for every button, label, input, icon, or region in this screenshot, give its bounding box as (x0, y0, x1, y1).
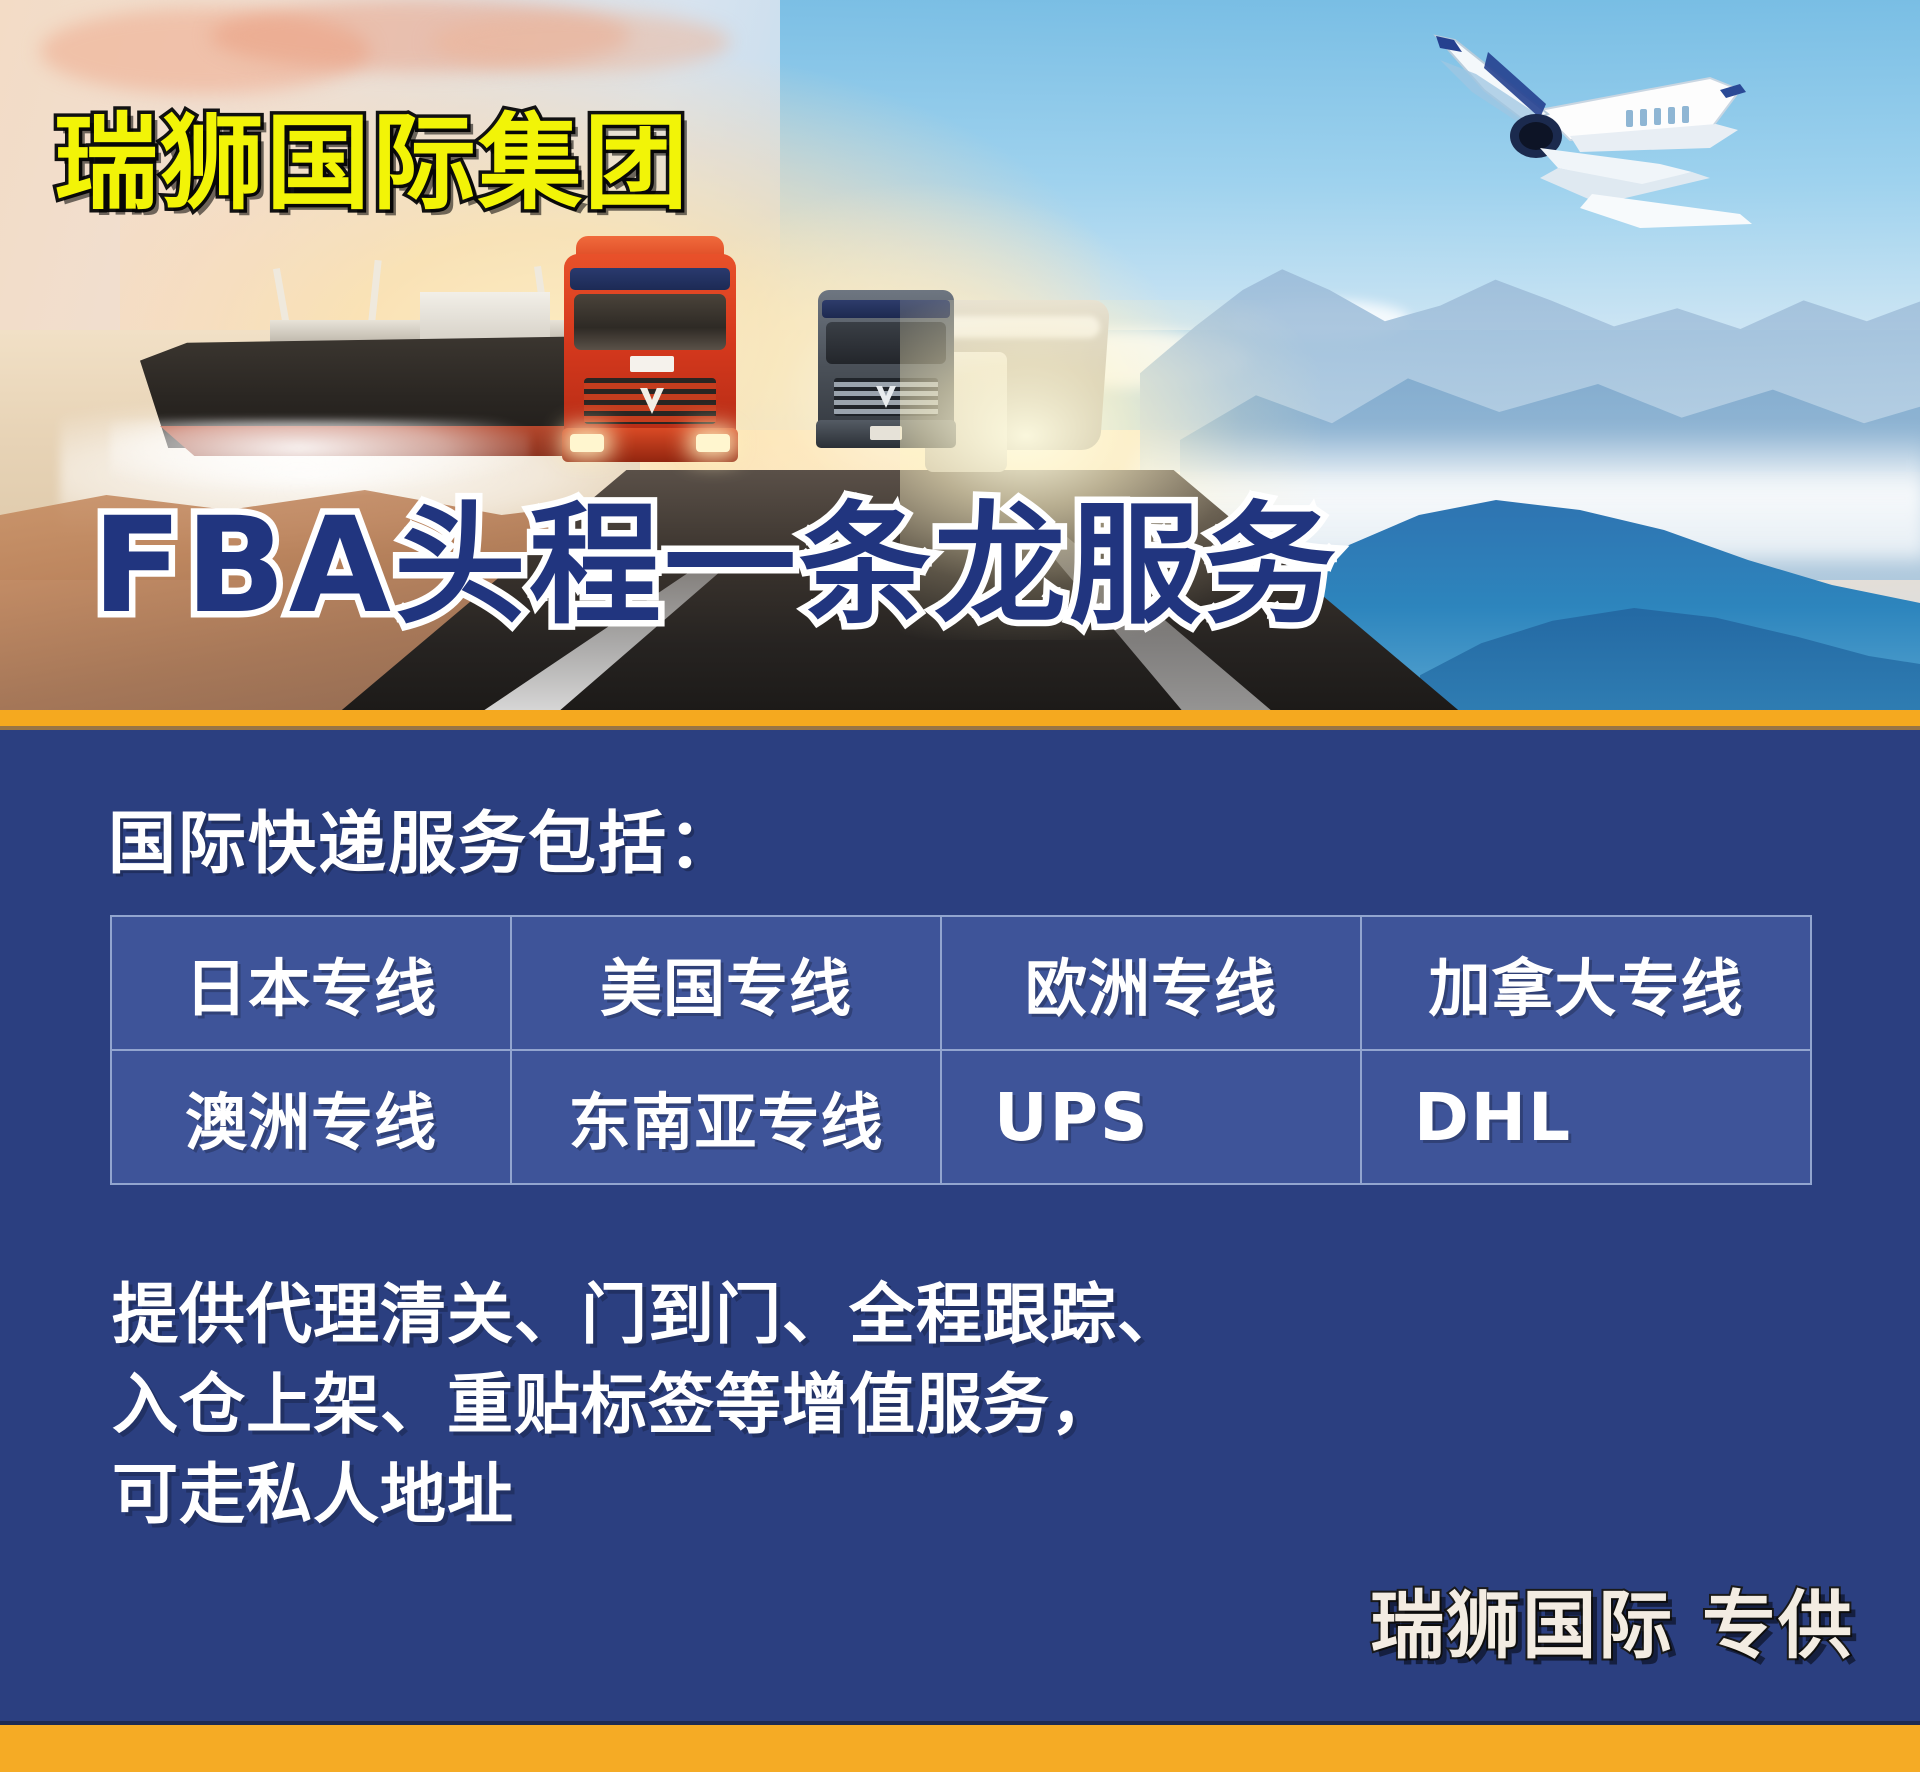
table-cell-dhl[interactable]: DHL (1361, 1050, 1811, 1184)
truck-brand-badge (630, 356, 674, 372)
footer-brand-mark: 瑞狮国际 专供 (1370, 1566, 1854, 1673)
paragraph-line-2: 入仓上架、重贴标签等增值服务， (112, 1360, 1184, 1450)
airplane-icon (1240, 18, 1760, 248)
cloud-icon (430, 12, 730, 72)
orange-divider (0, 710, 1920, 726)
truck-license-plate (870, 426, 902, 440)
truck-windshield (574, 294, 726, 350)
table-cell-eu[interactable]: 欧洲专线 (941, 916, 1361, 1050)
table-cell-ups[interactable]: UPS (941, 1050, 1361, 1184)
services-panel: 国际快递服务包括： 日本专线 美国专线 欧洲专线 加拿大专线 澳洲专线 东南亚专… (0, 730, 1920, 1725)
truck-visor-band (570, 268, 730, 290)
bottom-orange-bar (0, 1725, 1920, 1772)
hero-banner: 瑞狮国际集团 FBA头程一条龙服务 (0, 0, 1920, 712)
paragraph-line-1: 提供代理清关、门到门、全程跟踪、 (112, 1270, 1184, 1360)
table-cell-au[interactable]: 澳洲专线 (111, 1050, 511, 1184)
poster-root: 瑞狮国际集团 FBA头程一条龙服务 国际快递服务包括： 日本专线 美国专线 欧洲… (0, 0, 1920, 1772)
table-cell-us[interactable]: 美国专线 (511, 916, 941, 1050)
services-table: 日本专线 美国专线 欧洲专线 加拿大专线 澳洲专线 东南亚专线 UPS DHL (110, 915, 1812, 1185)
red-truck-graphic (556, 228, 746, 480)
paragraph-line-3: 可走私人地址 (112, 1450, 1184, 1540)
truck-headlight-icon (570, 434, 604, 452)
section-title: 国际快递服务包括： (108, 788, 738, 887)
truck-headlight-icon (696, 434, 730, 452)
brand-logo-text: 瑞狮国际集团 (54, 78, 690, 229)
ship-wake (110, 420, 530, 490)
table-row: 澳洲专线 东南亚专线 UPS DHL (111, 1050, 1811, 1184)
table-cell-ca[interactable]: 加拿大专线 (1361, 916, 1811, 1050)
table-cell-sea[interactable]: 东南亚专线 (511, 1050, 941, 1184)
services-paragraph: 提供代理清关、门到门、全程跟踪、 入仓上架、重贴标签等增值服务， 可走私人地址 (112, 1270, 1184, 1539)
hero-headline: FBA头程一条龙服务 (92, 500, 1339, 632)
table-cell-jp[interactable]: 日本专线 (111, 916, 511, 1050)
table-row: 日本专线 美国专线 欧洲专线 加拿大专线 (111, 916, 1811, 1050)
